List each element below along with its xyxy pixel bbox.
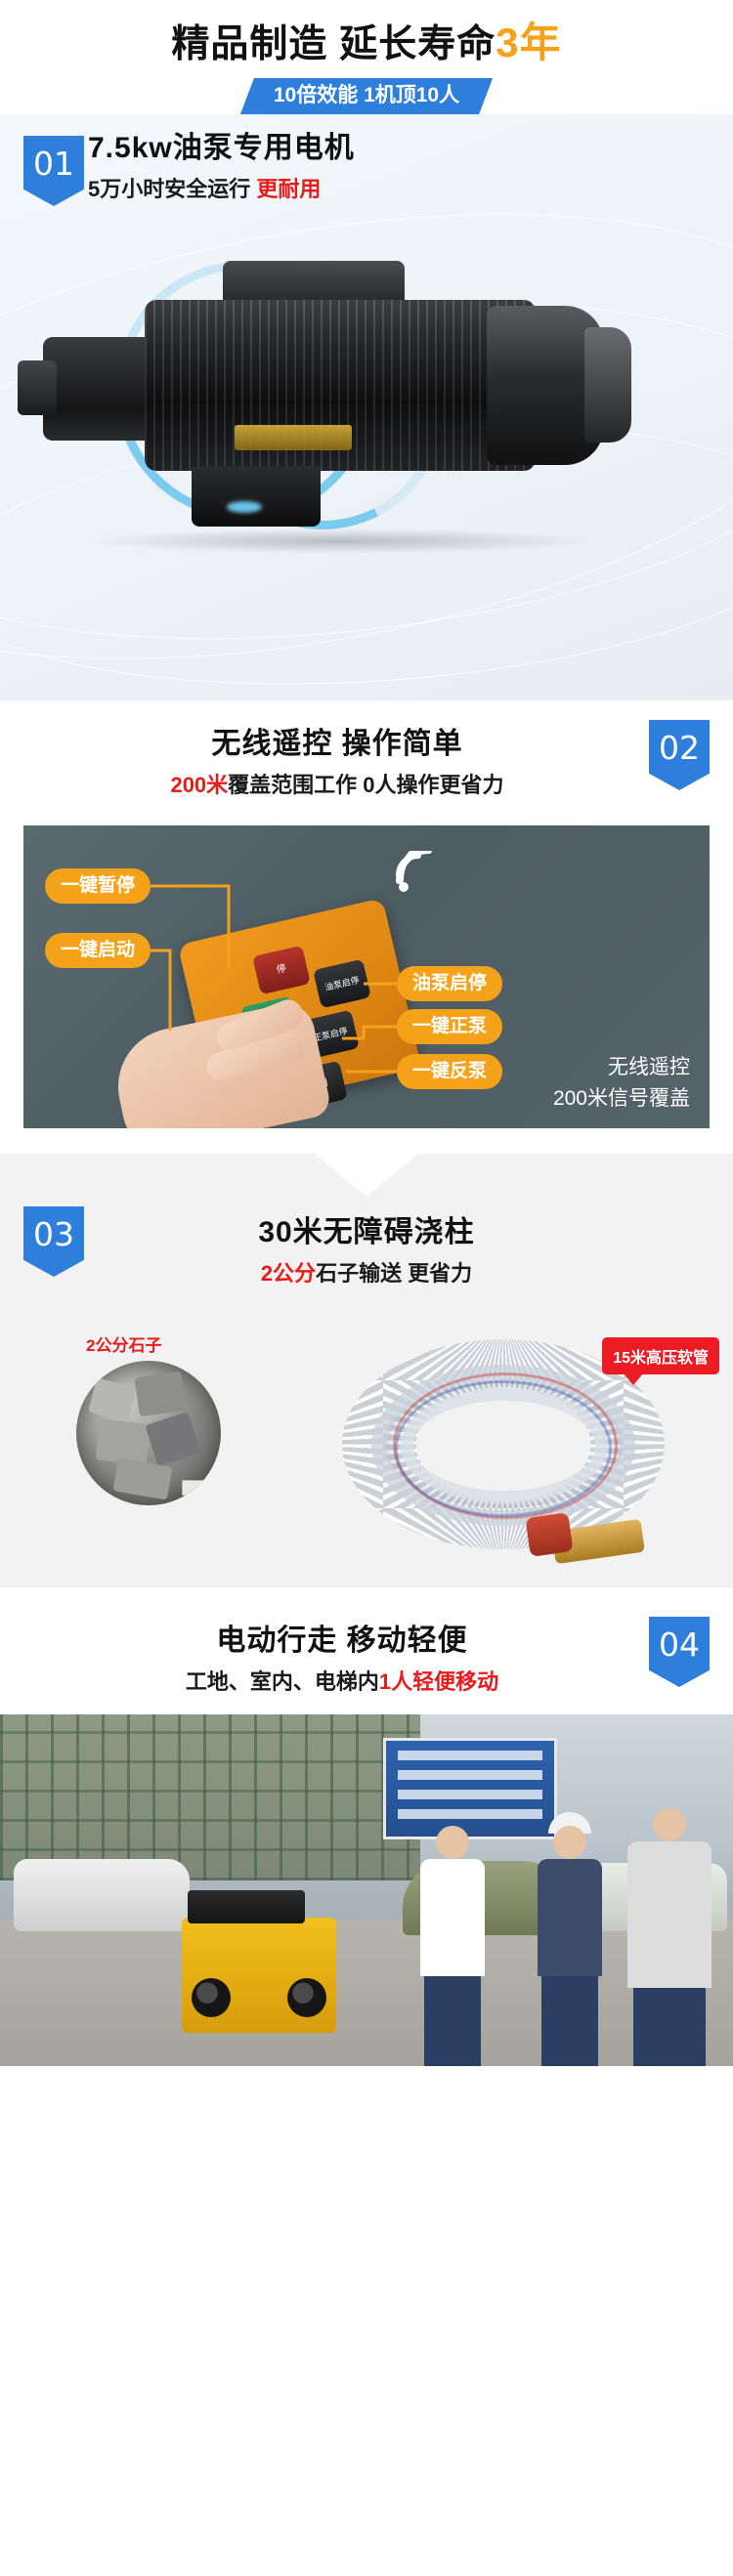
worker-head <box>553 1826 586 1859</box>
callout-start: 一键启动 <box>45 933 151 968</box>
section-01-head: 01 7.5kw油泵专用电机 5万小时安全运行 更耐用 <box>0 114 733 251</box>
remote-caption: 无线遥控 200米信号覆盖 <box>553 1052 690 1115</box>
section-03-subtitle-highlight: 2公分 <box>261 1261 316 1286</box>
page-title-main: 精品制造 延长寿命 <box>171 23 496 65</box>
worker-center <box>410 1826 495 2066</box>
section-02: 02 无线遥控 操作简单 200米覆盖范围工作 0人操作更省力 停 油泵启停 动… <box>0 700 733 1128</box>
machine-wheel <box>287 1978 326 2017</box>
stone-photo: 1 2 <box>76 1361 221 1505</box>
section-02-title: 无线遥控 操作简单 <box>0 724 733 765</box>
wifi-signal-icon <box>395 851 448 894</box>
section-03-head: 03 30米无障碍浇柱 2公分石子输送 更省力 <box>0 1197 733 1304</box>
ruler-mark-1: 1 <box>201 1483 206 1493</box>
header-ribbon-wrap: 10倍效能 1机顶10人 <box>0 78 733 114</box>
section-02-head: 02 无线遥控 操作简单 200米覆盖范围工作 0人操作更省力 <box>0 700 733 812</box>
section-03-subtitle-normal: 石子输送 更省力 <box>316 1261 472 1286</box>
section-02-subtitle-highlight: 200米 <box>170 773 228 797</box>
stone-label: 2公分石子 <box>86 1331 161 1356</box>
section-02-subtitle: 200米覆盖范围工作 0人操作更省力 <box>0 769 733 802</box>
worker-legs <box>541 1976 598 2066</box>
motor-base-foot <box>192 466 321 527</box>
worker-torso <box>538 1859 602 1976</box>
motor-shadow <box>88 528 596 554</box>
worker-right <box>616 1808 723 2066</box>
callout-pause: 一键暂停 <box>45 868 151 904</box>
callout-reverse-pump: 一键反泵 <box>397 1054 502 1089</box>
worker-head <box>653 1808 686 1841</box>
section-04-subtitle: 工地、室内、电梯内1人轻便移动 <box>0 1666 733 1699</box>
section-divider-notch <box>0 1154 733 1197</box>
page-header: 精品制造 延长寿命3年 10倍效能 1机顶10人 <box>0 0 733 114</box>
stone-ruler: 1 2 <box>182 1480 221 1496</box>
machine-wheel <box>192 1978 231 2017</box>
section-04-subtitle-highlight: 1人轻便移动 <box>379 1669 498 1694</box>
worker-legs <box>633 1988 706 2066</box>
section-01-subtitle: 5万小时安全运行 更耐用 <box>88 173 733 206</box>
scaffolding <box>0 1714 420 1880</box>
section-01: 01 7.5kw油泵专用电机 5万小时安全运行 更耐用 <box>0 114 733 700</box>
hose-red-fitting <box>525 1512 573 1557</box>
page-title: 精品制造 延长寿命3年 <box>0 18 733 70</box>
page-title-accent: 3年 <box>496 20 561 65</box>
section-04-subtitle-normal: 工地、室内、电梯内 <box>186 1669 379 1694</box>
hose-coil-inner-2 <box>401 1388 608 1503</box>
remote-caption-line2: 200米信号覆盖 <box>553 1083 690 1115</box>
worker-legs <box>424 1976 481 2066</box>
worker-with-helmet <box>528 1812 612 2066</box>
worker-torso <box>627 1841 711 1988</box>
callout-forward-pump: 一键正泵 <box>397 1009 502 1044</box>
header-ribbon: 10倍效能 1机顶10人 <box>240 78 493 114</box>
motor-end-cap <box>584 327 631 443</box>
worker-torso <box>420 1859 485 1976</box>
remote-caption-line1: 无线遥控 <box>553 1052 690 1083</box>
section-04: 04 电动行走 移动轻便 工地、室内、电梯内1人轻便移动 <box>0 1587 733 2066</box>
section-04-head: 04 电动行走 移动轻便 工地、室内、电梯内1人轻便移动 <box>0 1587 733 1714</box>
remote-control-image: 停 油泵启停 动 正泵启停 备用 备用 一键暂停 一键启动 油泵启停 一键正泵 … <box>23 825 710 1128</box>
section-divider-notch-inner <box>0 1154 733 1197</box>
concrete-pump-machine <box>182 1918 336 2033</box>
motor-highlight-glow <box>227 501 262 513</box>
section-02-subtitle-normal: 覆盖范围工作 0人操作更省力 <box>228 773 503 797</box>
section-01-title: 7.5kw油泵专用电机 <box>88 128 733 169</box>
parked-van <box>14 1859 190 1931</box>
section-03-title: 30米无障碍浇柱 <box>0 1212 733 1253</box>
motor-image: 01 7.5kw油泵专用电机 5万小时安全运行 更耐用 <box>0 114 733 700</box>
machine-hopper <box>188 1890 305 1923</box>
worksite-image <box>0 1714 733 2066</box>
callout-pump-toggle: 油泵启停 <box>397 966 502 1001</box>
motor-pump-nose <box>18 360 57 415</box>
hose-image: 2公分石子 1 2 15米高压软管 <box>0 1304 733 1587</box>
section-01-subtitle-highlight: 更耐用 <box>256 177 321 201</box>
section-03: 03 30米无障碍浇柱 2公分石子输送 更省力 2公分石子 1 2 15米高压软… <box>0 1154 733 1587</box>
section-01-subtitle-normal: 5万小时安全运行 <box>88 177 256 201</box>
section-03-subtitle: 2公分石子输送 更省力 <box>0 1257 733 1290</box>
section-04-title: 电动行走 移动轻便 <box>0 1621 733 1662</box>
worker-head <box>436 1826 469 1859</box>
hose-length-tag: 15米高压软管 <box>602 1337 719 1374</box>
motor-name-plate <box>235 425 352 450</box>
